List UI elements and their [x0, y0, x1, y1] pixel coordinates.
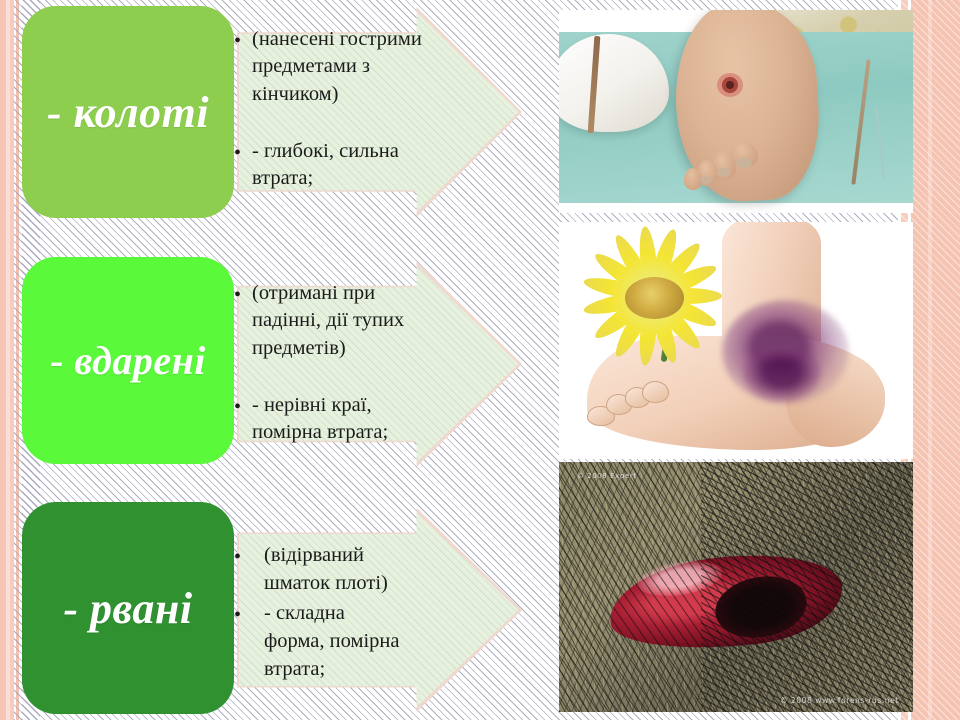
label-box-koloti[interactable]: - колоті: [22, 6, 234, 218]
bullet-marker-icon: •: [234, 600, 264, 625]
photo2-arnica-flower: [577, 236, 733, 359]
bullet-marker-icon: •: [234, 392, 252, 417]
photo3-watermark-top: © 2008 Expert: [577, 472, 637, 480]
bullet-list-1: • (нанесені гострими предметами з кінчик…: [234, 26, 484, 192]
label-box-rvani[interactable]: - рвані: [22, 502, 234, 714]
bullet-item: • - глибокі, сильна втрата;: [234, 138, 484, 193]
photo1-toenail: [700, 176, 712, 184]
photo2-flower-center: [625, 277, 684, 319]
bullet-item: • - складна форма, помірна втрата;: [234, 600, 484, 684]
bullet-item: • (нанесені гострими предметами з кінчик…: [234, 26, 484, 108]
bullet-text: - глибокі, сильна втрата;: [252, 138, 399, 193]
photo1-toenail: [717, 168, 730, 176]
bullet-marker-icon: •: [234, 138, 252, 163]
scalp-laceration-photo: © 2008 Expert © 2008 www.forens-rus.net: [559, 462, 913, 712]
label-box-vdareni-text: - вдарені: [50, 337, 206, 384]
bullet-text: (відірваний шматок плоті): [264, 542, 388, 598]
bullet-item: • - нерівні краї, помірна втрата;: [234, 392, 484, 447]
bullet-text: (нанесені гострими предметами з кінчиком…: [252, 26, 422, 108]
photo3-watermark-bottom: © 2008 www.forens-rus.net: [780, 696, 899, 705]
bullet-item: • (відірваний шматок плоті): [234, 542, 484, 598]
photo1-toenail: [736, 158, 751, 168]
bullet-marker-icon: •: [234, 542, 264, 567]
bruised-ankle-illustration: [559, 222, 913, 459]
label-box-rvani-text: - рвані: [63, 583, 192, 634]
photo2-bruise-core: [743, 345, 821, 402]
bullet-marker-icon: •: [234, 280, 252, 305]
bullet-item: • (отримані при падінні, дії тупих предм…: [234, 280, 484, 362]
bullet-text: - нерівні краї, помірна втрата;: [252, 392, 388, 447]
bullet-list-3: • (відірваний шматок плоті) • - складна …: [234, 542, 484, 683]
photo2-toes: [587, 378, 672, 440]
bullet-text: (отримані при падінні, дії тупих предмет…: [252, 280, 404, 362]
bullet-marker-icon: •: [234, 26, 252, 51]
photo1-toes: [679, 132, 789, 197]
bullet-list-2: • (отримані при падінні, дії тупих предм…: [234, 280, 484, 446]
puncture-wound-foot-photo: [559, 10, 913, 213]
bullet-text: - складна форма, помірна втрата;: [264, 600, 399, 684]
photo2-toe: [642, 381, 669, 403]
label-box-koloti-text: - колоті: [47, 87, 209, 138]
photo3-hair-overlay: [559, 462, 913, 712]
label-box-vdareni[interactable]: - вдарені: [22, 257, 234, 464]
slide-canvas: - колоті • (нанесені гострими предметами…: [0, 0, 960, 720]
